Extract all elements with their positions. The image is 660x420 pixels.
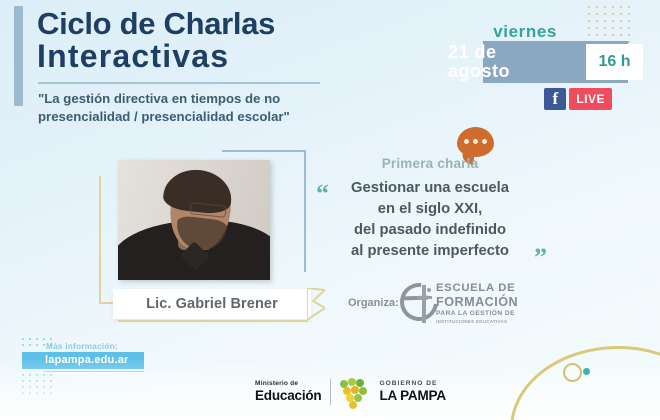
event-time: 16 h (598, 53, 630, 71)
facebook-icon[interactable]: f (544, 88, 566, 110)
event-date-line-2: agosto (448, 62, 568, 81)
organizer-logo-line-2: FORMACIÓN (436, 295, 554, 309)
decorative-ring (563, 363, 582, 382)
organizer-logo-line-3: PARA LA GESTIÓN DE (436, 310, 554, 319)
ministry-small-text: Ministerio de (255, 381, 321, 388)
facebook-live-badge[interactable]: f LIVE (544, 88, 612, 110)
title-line-2: Interactivas (37, 40, 347, 73)
event-time-box: 16 h (586, 44, 643, 80)
more-info-label: Más información: (46, 341, 118, 351)
talk-title-line-2: en el siglo XXI, (315, 199, 545, 220)
poster-canvas: Ciclo de Charlas Interactivas "La gestió… (0, 0, 660, 420)
quote-close-icon: ” (534, 245, 547, 271)
organizer-logo-line-1: ESCUELA DE (436, 282, 554, 295)
talk-title-line-1: Gestionar una escuela (315, 178, 545, 199)
ministry-big-text: Educación (255, 389, 321, 403)
organizer-logo-line-4: INSTITUCIONES EDUCATIVAS (436, 319, 554, 325)
ministry-logo: Ministerio de Educación (255, 381, 321, 402)
decorative-teal-dot (583, 368, 590, 375)
organizer-label: Organiza: (348, 297, 399, 309)
speaker-nameplate: Lic. Gabriel Brener (113, 289, 311, 319)
talk-title-line-4: al presente imperfecto (315, 241, 545, 262)
speaker-photo (118, 160, 270, 280)
title-divider (38, 82, 320, 84)
talk-eyebrow: Primera charla (330, 156, 530, 171)
la-pampa-logo: GOBIERNO DE LA PAMPA (379, 381, 445, 402)
poster-subtitle: "La gestión directiva en tiempos de no p… (38, 90, 328, 126)
live-label: LIVE (569, 88, 612, 110)
logo-divider (330, 379, 331, 405)
la-pampa-mark-icon (340, 378, 370, 406)
organizer-logo-text: ESCUELA DE FORMACIÓN PARA LA GESTIÓN DE … (436, 282, 554, 324)
gov-big-text: LA PAMPA (379, 389, 445, 403)
event-weekday: viernes (493, 22, 557, 42)
escuela-formacion-logo-icon (400, 281, 440, 325)
speech-bubble-icon (457, 127, 494, 157)
gov-small-text: GOBIERNO DE (379, 381, 445, 388)
title-line-1: Ciclo de Charlas (37, 6, 275, 41)
left-accent-bar (14, 6, 23, 106)
event-date: 21 de agosto (448, 43, 568, 81)
event-date-line-1: 21 de (448, 43, 568, 62)
speaker-name: Lic. Gabriel Brener (146, 296, 278, 312)
nameplate-ribbon-icon (307, 288, 325, 320)
page-title: Ciclo de Charlas Interactivas (37, 8, 347, 73)
talk-title-line-3: del pasado indefinido (315, 220, 545, 241)
talk-title: Gestionar una escuela en el siglo XXI, d… (315, 178, 545, 262)
nameplate-underline (118, 320, 308, 322)
government-logos: Ministerio de Educación GOBIERNO DE LA P… (255, 378, 446, 406)
